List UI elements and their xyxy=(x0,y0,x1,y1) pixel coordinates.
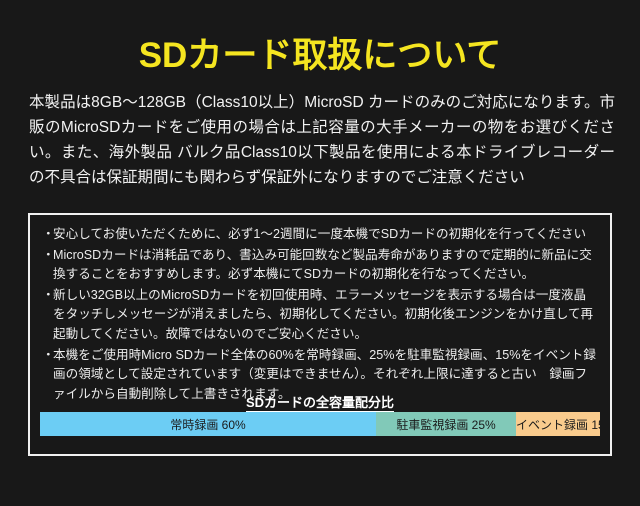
note-text: 安心してお使いただくために、必ず1〜2週間に一度本機でSDカードの初期化を行って… xyxy=(53,225,596,245)
note-text: MicroSDカードは消耗品であり、書込み可能回数など製品寿命がありますので定期… xyxy=(53,246,596,285)
bar-segment-parking-surveillance: 駐車監視録画 25% xyxy=(376,412,516,436)
bullet-icon: ・ xyxy=(42,225,53,245)
bullet-icon: ・ xyxy=(42,346,53,366)
page-title: SDカード取扱について xyxy=(0,38,640,73)
sd-card-instruction-page: SDカード取扱について 本製品は8GB〜128GB（Class10以上）Micr… xyxy=(0,0,640,506)
bullet-icon: ・ xyxy=(42,246,53,266)
bullet-icon: ・ xyxy=(42,286,53,306)
note-text: 新しい32GB以上のMicroSDカードを初回使用時、エラーメッセージを表示する… xyxy=(53,286,596,345)
bar-segment-label: 駐車監視録画 25% xyxy=(396,416,495,433)
intro-paragraph: 本製品は8GB〜128GB（Class10以上）MicroSD カードのみのご対… xyxy=(29,90,615,190)
chart-title-text: SDカードの全容量配分比 xyxy=(246,395,394,412)
bar-segment-event-recording: イベント録画 15% xyxy=(516,412,600,436)
bar-segment-continuous-recording: 常時録画 60% xyxy=(40,412,376,436)
list-item: ・ 安心してお使いただくために、必ず1〜2週間に一度本機でSDカードの初期化を行… xyxy=(42,225,596,245)
list-item: ・ MicroSDカードは消耗品であり、書込み可能回数など製品寿命がありますので… xyxy=(42,246,596,285)
chart-title: SDカードの全容量配分比 xyxy=(0,392,640,411)
bar-segment-label: 常時録画 60% xyxy=(170,416,245,433)
list-item: ・ 新しい32GB以上のMicroSDカードを初回使用時、エラーメッセージを表示… xyxy=(42,286,596,345)
bar-segment-label: イベント録画 15% xyxy=(516,416,600,433)
capacity-allocation-bar: 常時録画 60% 駐車監視録画 25% イベント録画 15% xyxy=(40,412,600,436)
